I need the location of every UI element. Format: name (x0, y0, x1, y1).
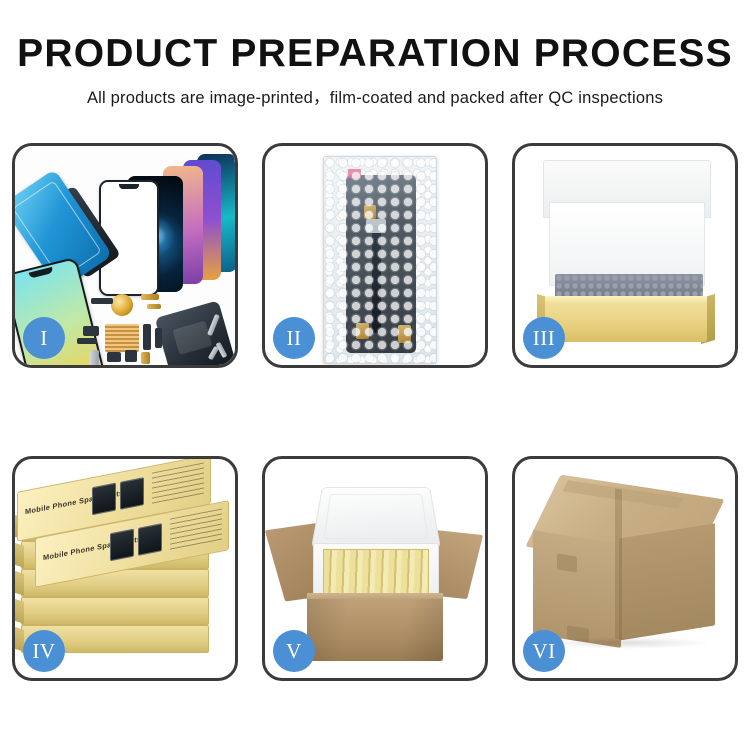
step-badge-4: IV (23, 630, 65, 672)
step-badge-5: V (273, 630, 315, 672)
box-spec-lines (170, 509, 222, 553)
yellow-boxes-inside (323, 549, 429, 595)
gold-contact (364, 205, 376, 219)
box-front (545, 302, 707, 342)
box-spec-lines (152, 463, 204, 507)
box-phone-graphic (120, 477, 144, 510)
page-subtitle: All products are image-printed，film-coat… (0, 84, 750, 108)
process-step-panel-4[interactable]: Mobile Phone Spare Parts Mobile Phone Sp… (12, 456, 238, 681)
carton-shadow (543, 637, 711, 649)
page-header: PRODUCT PREPARATION PROCESS All products… (0, 0, 750, 108)
connector (366, 219, 386, 233)
carton-edge-seam (615, 488, 622, 639)
process-step-panel-3[interactable]: III (512, 143, 738, 368)
process-step-panel-1[interactable]: I (12, 143, 238, 368)
spare-part (141, 294, 159, 300)
process-step-panel-2[interactable]: II (262, 143, 488, 368)
spare-part (125, 350, 137, 362)
spare-part (147, 304, 161, 309)
gold-contact (356, 323, 369, 339)
mesh-grid-part (105, 324, 139, 352)
spare-part (155, 328, 162, 348)
box-phone-graphic (138, 523, 162, 556)
carton-shading (307, 599, 443, 661)
spare-part (143, 324, 151, 350)
process-step-grid: I II III (12, 143, 738, 681)
spare-part (83, 326, 99, 336)
gold-contact (398, 325, 411, 343)
spare-part (107, 352, 121, 362)
spare-part (77, 338, 97, 344)
spare-part (91, 298, 113, 304)
box-phone-graphic (92, 483, 116, 516)
step-badge-3: III (523, 317, 565, 359)
spare-part (89, 350, 99, 365)
step-badge-1: I (23, 317, 65, 359)
spare-part (141, 352, 150, 364)
step-badge-2: II (273, 317, 315, 359)
box-phone-graphic (110, 529, 134, 562)
stacked-box (21, 597, 209, 625)
process-step-panel-5[interactable]: V (262, 456, 488, 681)
process-step-panel-6[interactable]: VI (512, 456, 738, 681)
foam-case-lid (311, 487, 441, 549)
step-badge-6: VI (523, 630, 565, 672)
page-title: PRODUCT PREPARATION PROCESS (0, 34, 750, 75)
gold-coil-part (111, 294, 133, 316)
bubble-wrap-bag (323, 156, 437, 364)
flex-cable (372, 225, 381, 333)
pink-label (348, 169, 361, 178)
carton-face-right (619, 523, 715, 640)
carton-tab (557, 553, 577, 572)
